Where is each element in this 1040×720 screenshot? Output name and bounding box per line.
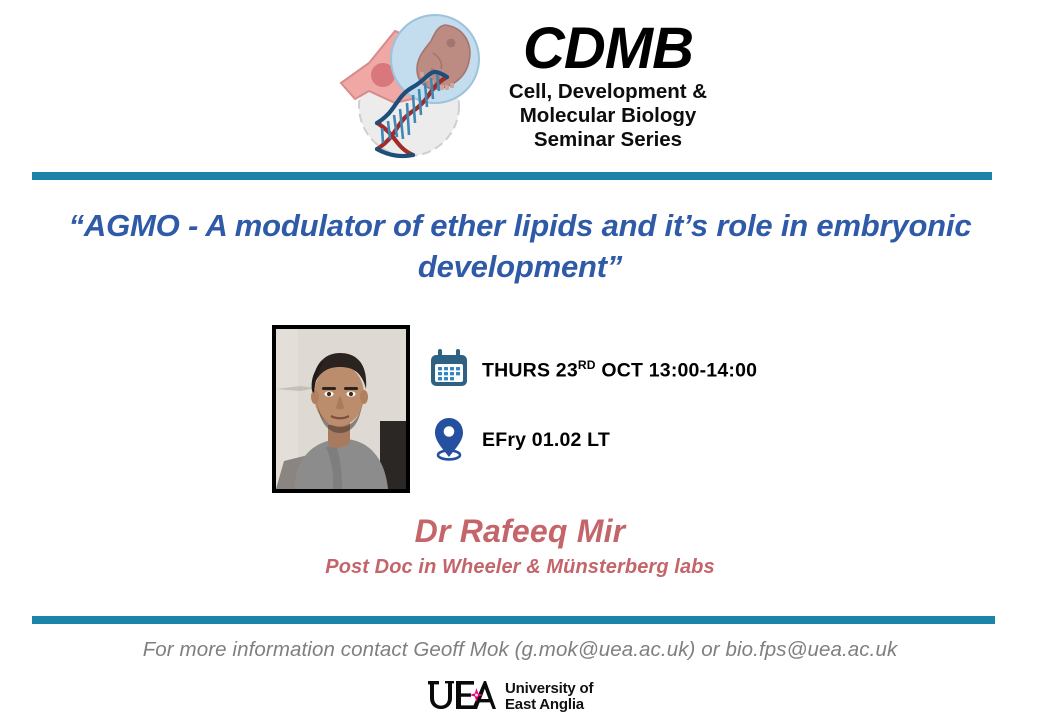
event-date-ordinal: RD xyxy=(578,358,596,372)
embryo-cell-dna-logo xyxy=(333,11,493,161)
speaker-name: Dr Rafeeq Mir xyxy=(40,512,1000,550)
brand-subtitle-line-2: Molecular Biology xyxy=(509,104,707,128)
brand-acronym: CDMB xyxy=(523,21,693,76)
event-date-suffix: OCT 13:00-14:00 xyxy=(596,359,757,381)
brand-subtitle-line-1: Cell, Development & xyxy=(509,80,707,104)
event-details: THURS 23RD OCT 13:00-14:00 EFry 01.02 LT xyxy=(428,342,848,468)
speaker-block: Dr Rafeeq Mir Post Doc in Wheeler & Müns… xyxy=(40,512,1000,579)
speaker-role: Post Doc in Wheeler & Münsterberg labs xyxy=(40,556,1000,579)
divider-bottom xyxy=(32,616,995,624)
event-date-row: THURS 23RD OCT 13:00-14:00 xyxy=(428,342,848,398)
uea-name-line-2: East Anglia xyxy=(505,697,593,713)
poster-header: CDMB Cell, Development & Molecular Biolo… xyxy=(0,8,1040,163)
divider-top xyxy=(32,172,992,180)
event-venue-row: EFry 01.02 LT xyxy=(428,412,848,468)
uea-name-line-1: University of xyxy=(505,681,593,697)
seminar-poster: CDMB Cell, Development & Molecular Biolo… xyxy=(0,0,1040,720)
uea-name: University of East Anglia xyxy=(505,681,593,713)
event-venue: EFry 01.02 LT xyxy=(482,429,610,452)
event-date: THURS 23RD OCT 13:00-14:00 xyxy=(482,358,757,383)
uea-monogram-icon xyxy=(428,679,496,716)
brand-wordmark: CDMB Cell, Development & Molecular Biolo… xyxy=(509,19,707,152)
uea-logo: University of East Anglia xyxy=(428,680,593,714)
brand-subtitle: Cell, Development & Molecular Biology Se… xyxy=(509,80,707,152)
location-pin-icon xyxy=(428,414,470,467)
speaker-portrait xyxy=(272,325,410,493)
brand-subtitle-line-3: Seminar Series xyxy=(509,128,707,152)
event-date-prefix: THURS 23 xyxy=(482,359,578,381)
calendar-icon xyxy=(428,347,470,394)
contact-info: For more information contact Geoff Mok (… xyxy=(40,638,1000,662)
page-title: “AGMO - A modulator of ether lipids and … xyxy=(50,205,990,287)
